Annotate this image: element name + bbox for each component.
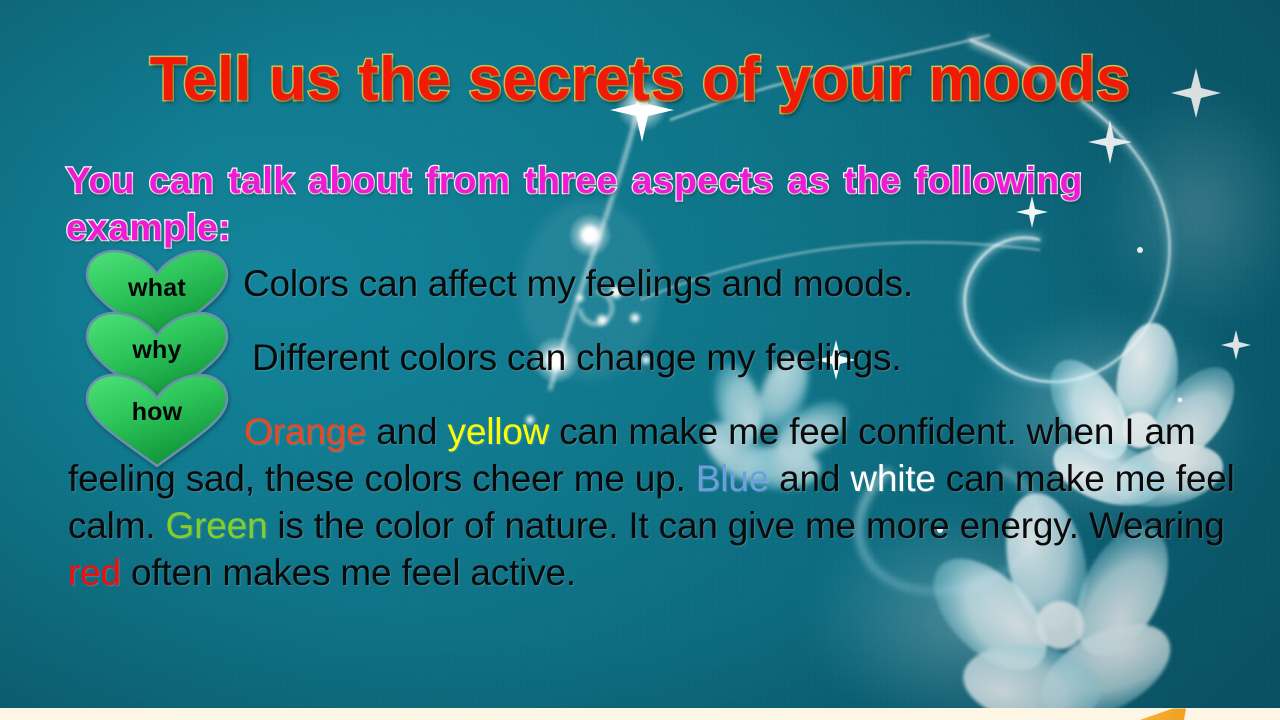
page-title: Tell us the secrets of your moods (13, 44, 1267, 115)
color-word-red: red (68, 552, 121, 593)
heart-label-what: what (83, 274, 231, 303)
slide-subtitle: You can talk about from three aspects as… (66, 158, 1246, 252)
paragraph-text: often makes me feel active. (121, 552, 576, 593)
presentation-slide: Tell us the secrets of your moods You ca… (0, 0, 1280, 720)
heart-bullet-group: what why (83, 248, 235, 448)
color-word-yellow: yellow (448, 411, 550, 452)
answer-why: Different colors can change my feelings. (252, 337, 901, 379)
paragraph-text: and (769, 458, 850, 499)
color-word-blue: Blue (696, 458, 769, 499)
answer-how-paragraph: Orange and yellow can make me feel confi… (68, 408, 1268, 596)
paragraph-text: is the color of nature. It can give me m… (267, 505, 1224, 546)
paragraph-text: and (366, 411, 447, 452)
heart-label-why: why (83, 336, 231, 365)
color-word-orange: Orange (244, 411, 366, 452)
color-word-green: Green (165, 505, 267, 546)
heart-label-how: how (83, 398, 231, 427)
answer-what: Colors can affect my feelings and moods. (243, 263, 913, 305)
color-word-white: white (850, 458, 935, 499)
bottom-strip (0, 708, 1280, 720)
